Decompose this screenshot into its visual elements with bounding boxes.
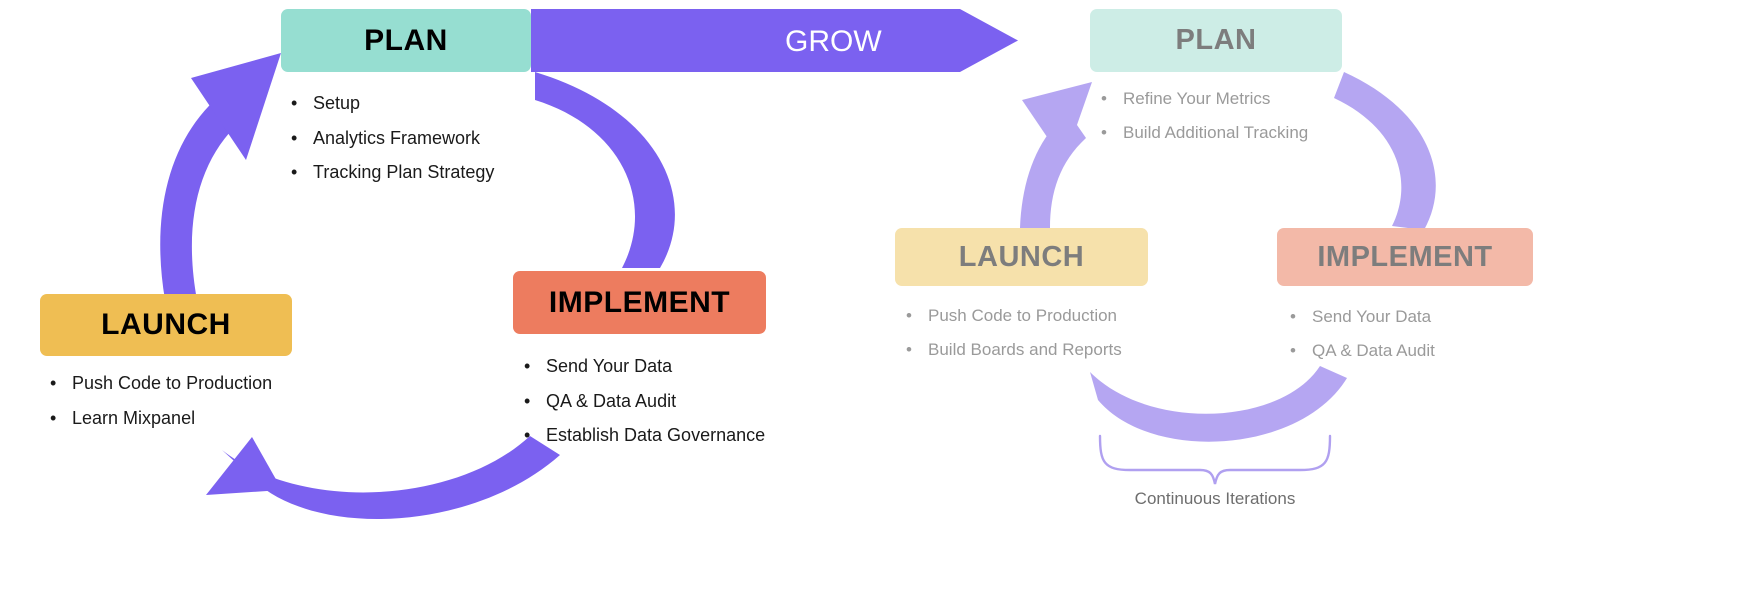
bullet-text: Learn Mixpanel: [72, 407, 195, 430]
bullet-text: Send Your Data: [1312, 306, 1431, 327]
list-item: • Build Boards and Reports: [906, 339, 1206, 360]
list-item: • Refine Your Metrics: [1101, 88, 1401, 109]
bullet-icon: •: [291, 127, 313, 150]
list-item: • Send Your Data: [524, 355, 844, 378]
bullet-icon: •: [906, 339, 928, 360]
faded-arrow-launch-to-plan-head: [1022, 82, 1092, 162]
continuous-brace: [1100, 436, 1330, 484]
faded-stage-bullets-plan: • Refine Your Metrics • Build Additional…: [1101, 88, 1401, 144]
stage-bullets-plan: • Setup • Analytics Framework • Tracking…: [291, 92, 591, 184]
bullet-icon: •: [906, 305, 928, 326]
list-item: • Send Your Data: [1290, 306, 1590, 327]
list-item: • QA & Data Audit: [524, 390, 844, 413]
list-item: • Push Code to Production: [906, 305, 1206, 326]
stage-bullets-launch: • Push Code to Production • Learn Mixpan…: [50, 372, 350, 429]
stage-bullets-implement: • Send Your Data • QA & Data Audit • Est…: [524, 355, 844, 447]
faded-stage-header-launch[interactable]: LAUNCH: [895, 228, 1148, 286]
bullet-icon: •: [1290, 306, 1312, 327]
arrow-launch-to-plan: [160, 86, 252, 300]
bullet-text: Send Your Data: [546, 355, 672, 378]
bullet-text: QA & Data Audit: [1312, 340, 1435, 361]
arrow-implement-to-launch-head: [206, 437, 282, 495]
faded-stage-header-implement-label: IMPLEMENT: [1317, 241, 1492, 274]
bullet-icon: •: [1101, 122, 1123, 143]
faded-arrow-launch-to-plan: [1020, 112, 1086, 228]
list-item: • Setup: [291, 92, 591, 115]
bullet-text: Setup: [313, 92, 360, 115]
bullet-text: Build Boards and Reports: [928, 339, 1122, 360]
bullet-icon: •: [1290, 340, 1312, 361]
grow-arrow-label: GROW: [785, 25, 882, 59]
bullet-icon: •: [291, 92, 313, 115]
list-item: • Tracking Plan Strategy: [291, 161, 591, 184]
bullet-text: Tracking Plan Strategy: [313, 161, 494, 184]
faded-arrow-implement-to-launch: [1090, 366, 1347, 442]
list-item: • Push Code to Production: [50, 372, 350, 395]
bullet-text: Push Code to Production: [72, 372, 272, 395]
bullet-icon: •: [291, 161, 313, 184]
grow-arrow: [531, 9, 1018, 72]
faded-stage-header-launch-label: LAUNCH: [959, 241, 1084, 274]
stage-header-implement[interactable]: IMPLEMENT: [513, 271, 766, 334]
arrow-implement-to-launch: [222, 436, 560, 519]
faded-stage-header-plan[interactable]: PLAN: [1090, 9, 1342, 72]
faded-stage-bullets-implement: • Send Your Data • QA & Data Audit: [1290, 306, 1590, 362]
faded-stage-bullets-launch: • Push Code to Production • Build Boards…: [906, 305, 1206, 361]
stage-header-implement-label: IMPLEMENT: [549, 286, 730, 320]
stage-header-launch-label: LAUNCH: [101, 308, 231, 342]
faded-stage-header-implement[interactable]: IMPLEMENT: [1277, 228, 1533, 286]
bullet-icon: •: [524, 424, 546, 447]
list-item: • Analytics Framework: [291, 127, 591, 150]
list-item: • QA & Data Audit: [1290, 340, 1590, 361]
list-item: • Learn Mixpanel: [50, 407, 350, 430]
bullet-icon: •: [524, 390, 546, 413]
list-item: • Establish Data Governance: [524, 424, 844, 447]
bullet-text: Refine Your Metrics: [1123, 88, 1270, 109]
bullet-text: QA & Data Audit: [546, 390, 676, 413]
bullet-text: Build Additional Tracking: [1123, 122, 1308, 143]
continuous-iterations-label: Continuous Iterations: [1115, 489, 1315, 509]
arrow-launch-to-plan-head: [191, 53, 281, 160]
bullet-text: Establish Data Governance: [546, 424, 765, 447]
diagram-canvas: PLAN • Setup • Analytics Framework • Tra…: [0, 0, 1740, 589]
bullet-icon: •: [50, 407, 72, 430]
stage-header-plan[interactable]: PLAN: [281, 9, 531, 72]
faded-stage-header-plan-label: PLAN: [1176, 24, 1257, 57]
bullet-icon: •: [524, 355, 546, 378]
stage-header-plan-label: PLAN: [364, 24, 448, 58]
bullet-text: Push Code to Production: [928, 305, 1117, 326]
bullet-icon: •: [50, 372, 72, 395]
bullet-icon: •: [1101, 88, 1123, 109]
bullet-text: Analytics Framework: [313, 127, 480, 150]
stage-header-launch[interactable]: LAUNCH: [40, 294, 292, 356]
list-item: • Build Additional Tracking: [1101, 122, 1401, 143]
